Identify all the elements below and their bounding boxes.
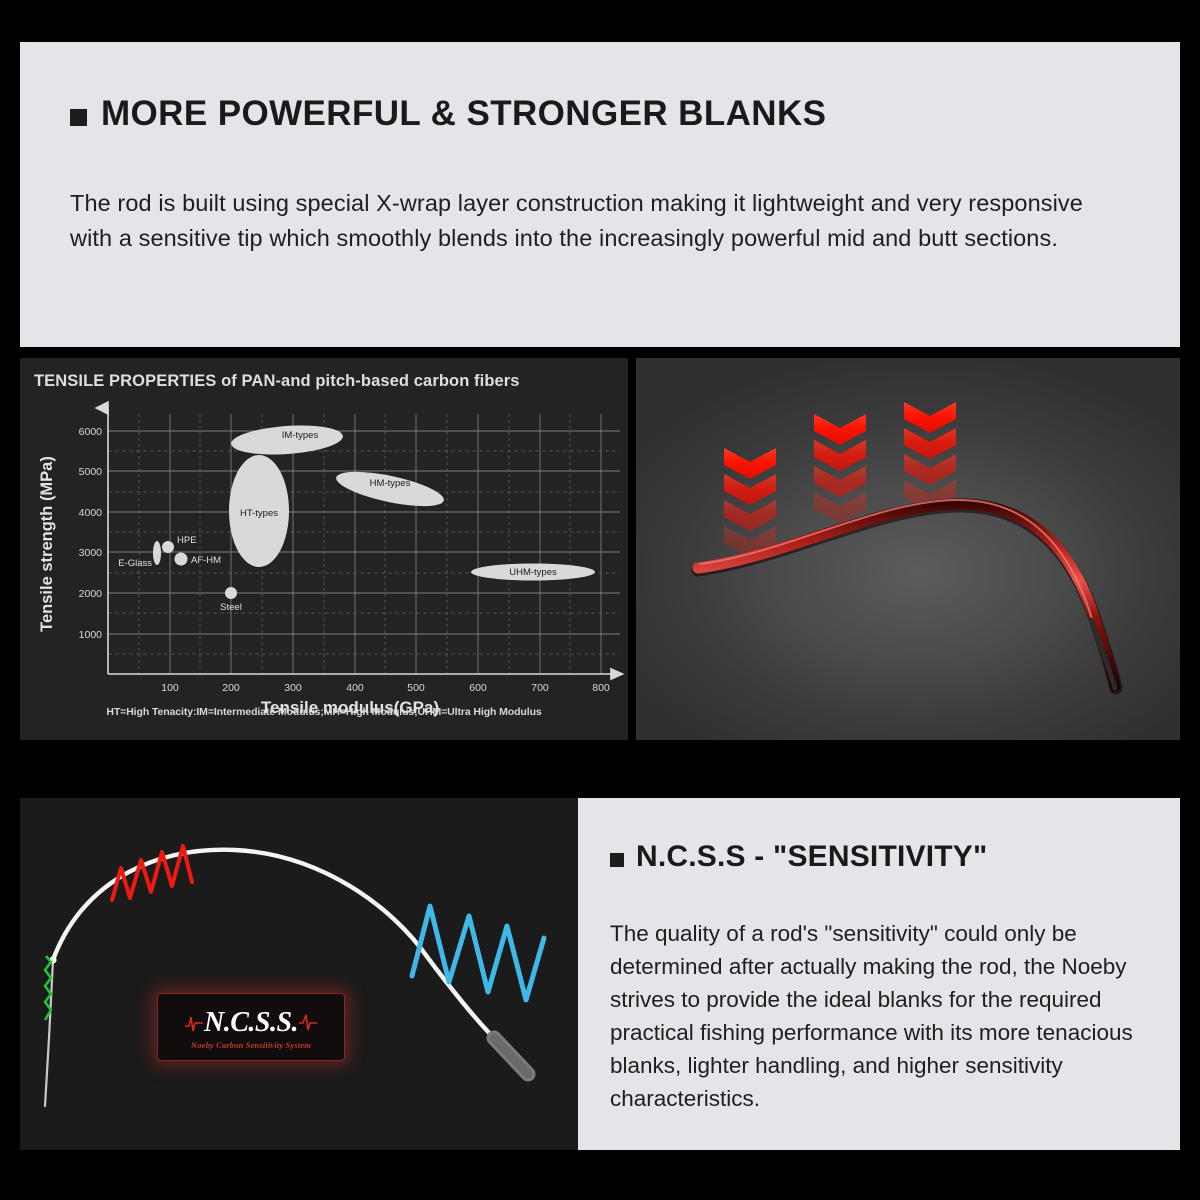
ncss-section-title: N.C.S.S - "SENSITIVITY" (636, 840, 987, 874)
point-e-glass (153, 541, 161, 565)
square-bullet-icon (610, 853, 624, 867)
point-steel-label: Steel (220, 602, 242, 613)
point-hpe-label: HPE (177, 535, 197, 546)
region-uhm-types-label: UHM-types (509, 567, 557, 578)
ncss-logo-badge: N.C.S.S. Noeby Carbon Sensitivity System (157, 993, 345, 1061)
svg-text:700: 700 (531, 682, 549, 694)
svg-text:300: 300 (284, 682, 302, 694)
ncss-sensitivity-panel: N.C.S.S - "SENSITIVITY" The quality of a… (578, 798, 1180, 1150)
powerful-blanks-panel: MORE POWERFUL & STRONGER BLANKS The rod … (20, 42, 1180, 347)
svg-text:4000: 4000 (79, 507, 103, 519)
ncss-diagram-panel (20, 798, 578, 1150)
point-steel (225, 587, 237, 599)
ncss-sensitivity-body: The quality of a rod's "sensitivity" cou… (610, 917, 1155, 1115)
page-title: MORE POWERFUL & STRONGER BLANKS (101, 94, 826, 134)
ncss-wordmark: N.C.S.S. (204, 1009, 298, 1037)
region-hm-types (333, 465, 446, 513)
ncss-subtitle: Noeby Carbon Sensitivity System (191, 1041, 311, 1050)
svg-text:400: 400 (346, 682, 364, 694)
svg-text:5000: 5000 (79, 466, 103, 478)
rod-power-photo-panel (636, 358, 1180, 740)
chart-y-tick-labels: 1000 2000 3000 4000 5000 6000 (79, 426, 103, 641)
infographic-page: MORE POWERFUL & STRONGER BLANKS The rod … (0, 0, 1200, 1200)
region-ht-types-label: HT-types (240, 508, 278, 519)
chart-canvas: 1000 2000 3000 4000 5000 6000 100 200 30… (20, 358, 628, 740)
chevron-stack-small (724, 448, 776, 557)
ncss-wordmark-row: N.C.S.S. (185, 1009, 317, 1037)
chart-material-points: E-Glass HPE AF-HM Steel (118, 535, 242, 613)
point-e-glass-label: E-Glass (118, 558, 152, 569)
chart-y-axis-label: Tensile strength (MPa) (38, 456, 56, 632)
sensitivity-rod-curve (45, 850, 528, 1106)
powerful-blanks-heading: MORE POWERFUL & STRONGER BLANKS (70, 94, 826, 134)
ecg-pulse-left-icon (185, 1012, 203, 1034)
wave-green-low (45, 956, 51, 1020)
svg-text:800: 800 (592, 682, 610, 694)
ncss-sensitivity-heading: N.C.S.S - "SENSITIVITY" (610, 840, 987, 874)
region-hm-types-label: HM-types (370, 478, 411, 489)
chart-footnote: HT=High Tenacity:IM=Intermediate Modulus… (20, 706, 628, 718)
svg-text:600: 600 (469, 682, 487, 694)
svg-text:1000: 1000 (79, 629, 103, 641)
point-hpe (162, 541, 174, 553)
powerful-blanks-body: The rod is built using special X-wrap la… (70, 186, 1130, 256)
point-af-hm (175, 553, 188, 566)
svg-text:3000: 3000 (79, 547, 103, 559)
svg-text:200: 200 (222, 682, 240, 694)
svg-text:500: 500 (407, 682, 425, 694)
rod-power-svg (636, 358, 1180, 740)
square-bullet-icon (70, 109, 87, 126)
chart-svg: 1000 2000 3000 4000 5000 6000 100 200 30… (20, 358, 628, 740)
wave-red-mid (112, 846, 192, 900)
wave-cyan-high (412, 906, 544, 1000)
chevron-stack-medium (814, 414, 866, 523)
tensile-properties-chart-panel: TENSILE PROPERTIES of PAN-and pitch-base… (20, 358, 628, 740)
chart-x-tick-labels: 100 200 300 400 500 600 700 800 (161, 682, 610, 694)
svg-text:6000: 6000 (79, 426, 103, 438)
bent-rod-blank (698, 500, 1116, 688)
svg-text:100: 100 (161, 682, 179, 694)
point-af-hm-label: AF-HM (191, 555, 221, 566)
chevron-stack-large (904, 402, 956, 511)
ecg-pulse-right-icon (299, 1012, 317, 1034)
ncss-diagram-svg (20, 798, 578, 1150)
region-im-types-label: IM-types (282, 430, 319, 441)
svg-text:2000: 2000 (79, 588, 103, 600)
